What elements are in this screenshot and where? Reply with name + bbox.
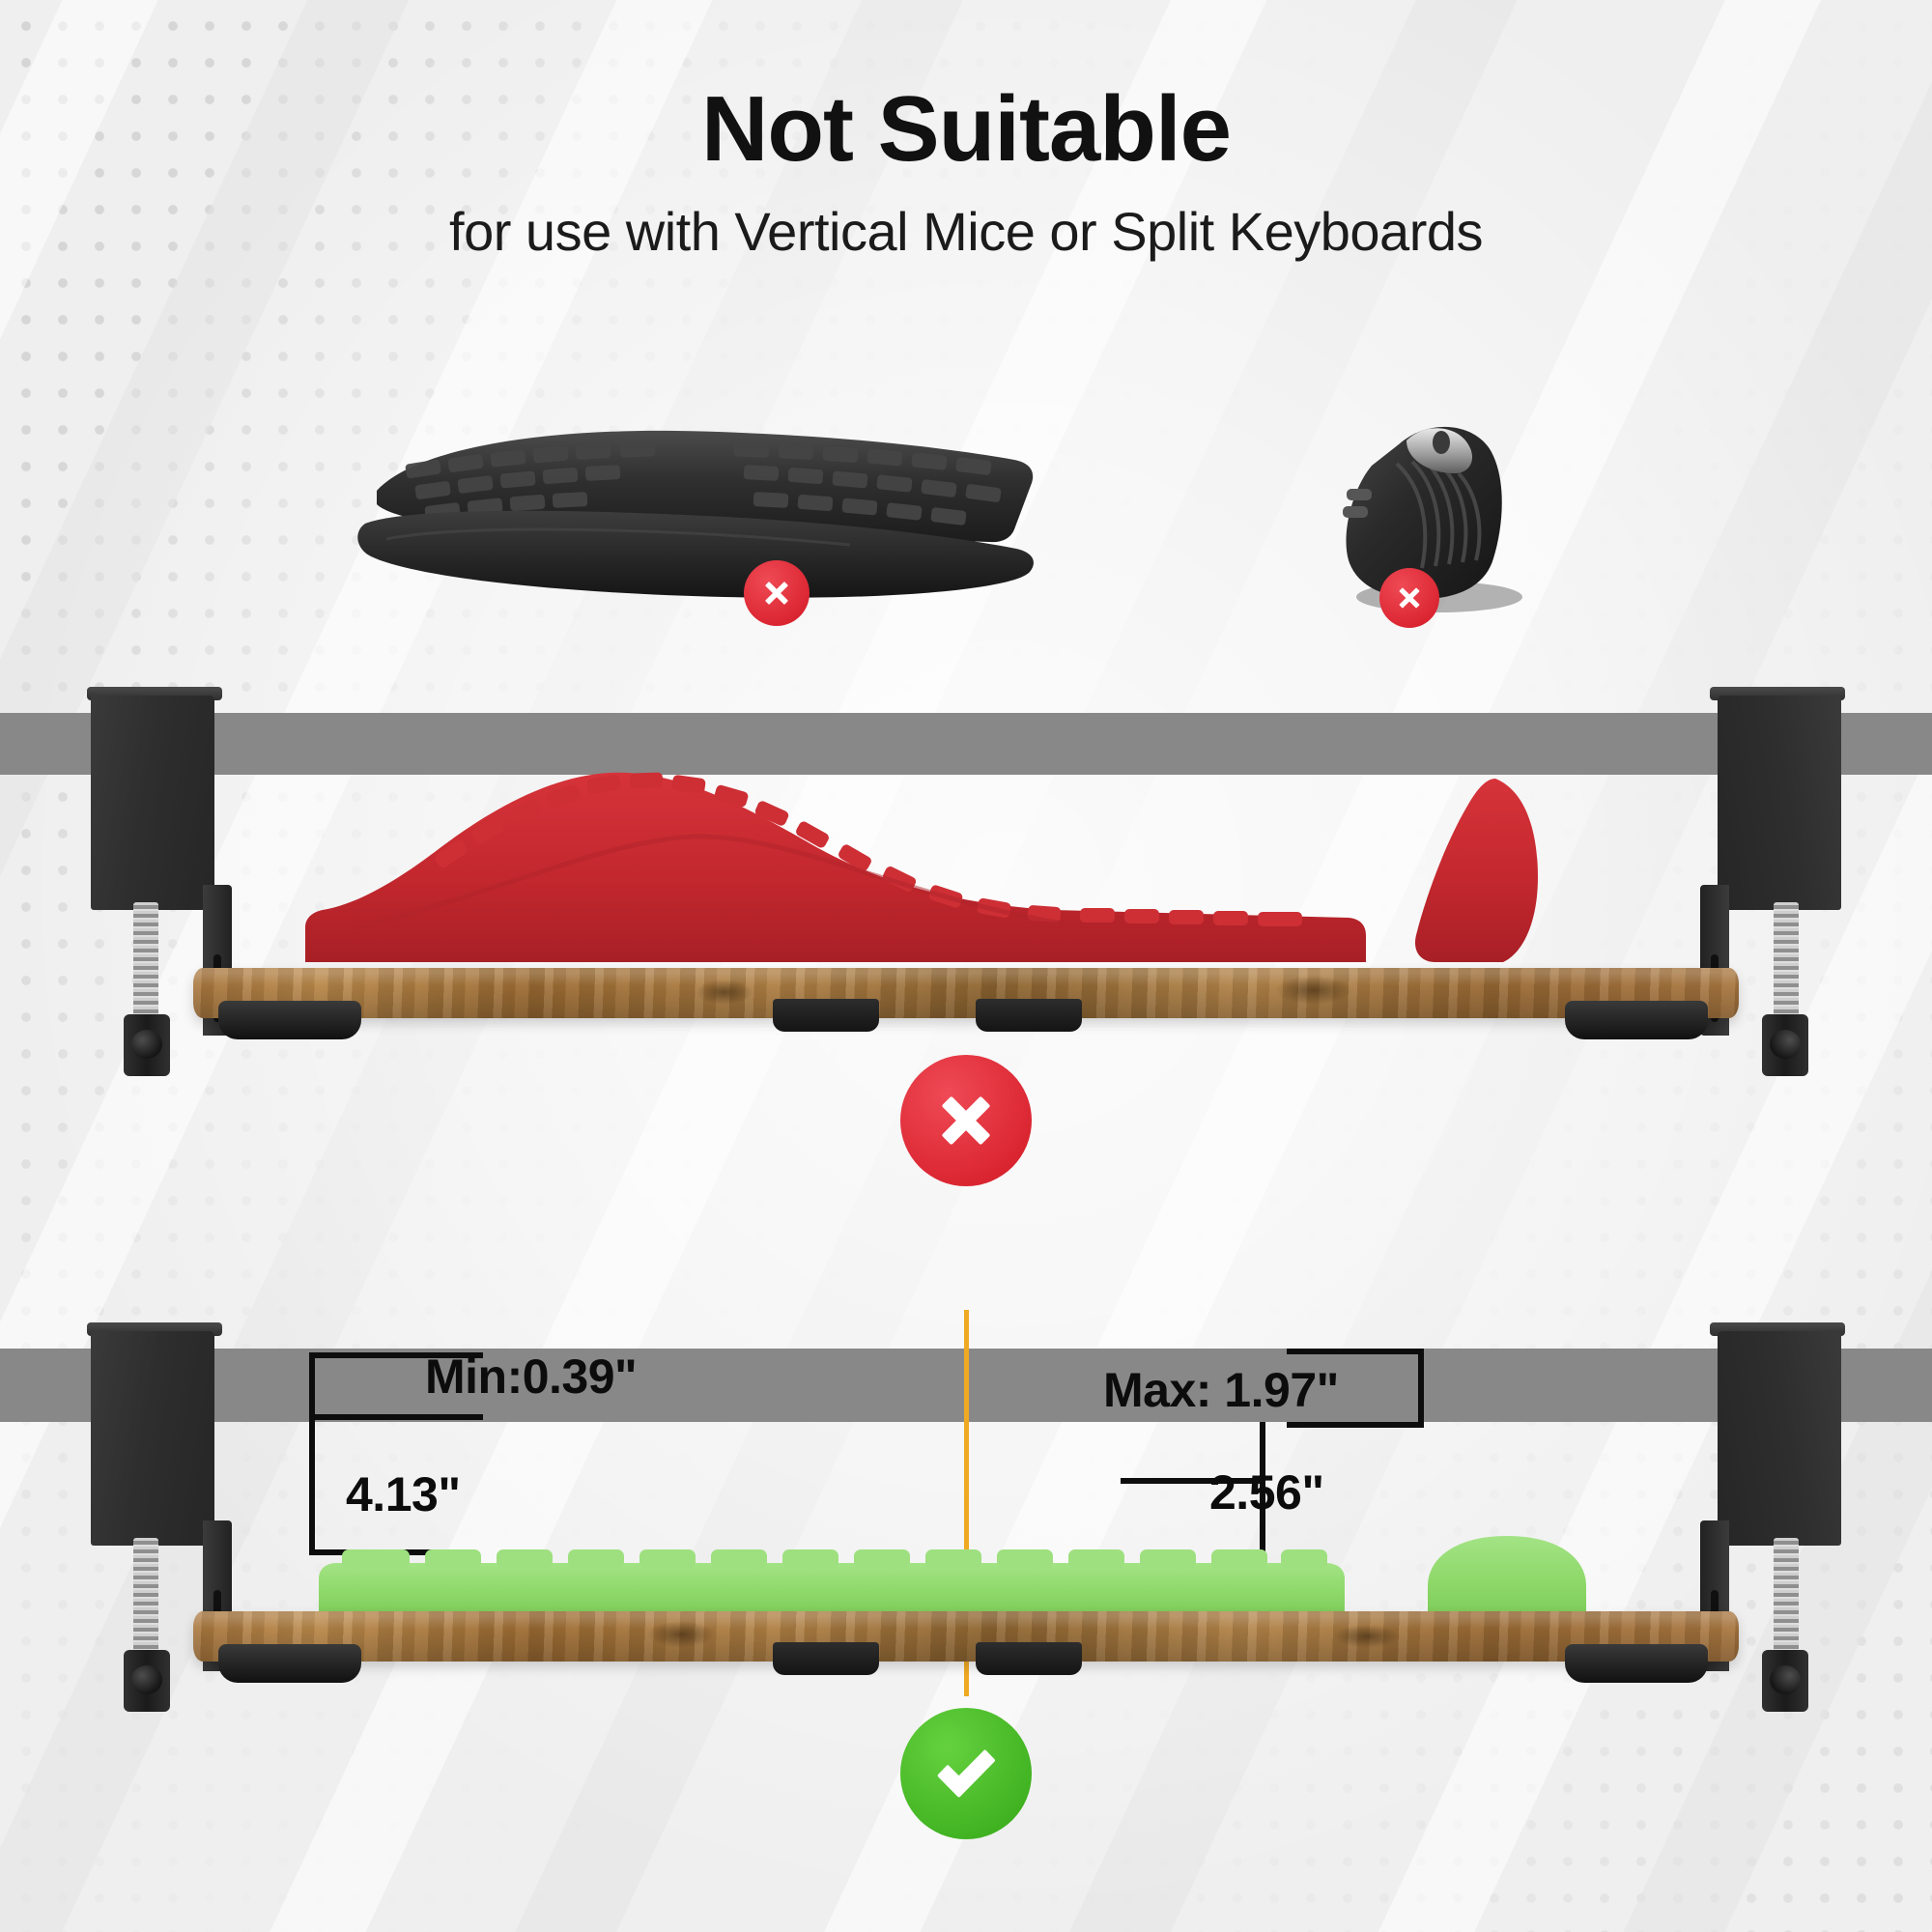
dim-label-413: 4.13" [346,1466,461,1522]
dim-label-256: 2.56" [1209,1464,1324,1520]
heading-block: Not Suitable for use with Vertical Mice … [0,81,1932,263]
dim-max-vert [1418,1349,1424,1428]
x-mark-badge-bad-setup [900,1055,1032,1186]
tray-foot-right-bad [1565,1001,1708,1039]
dim-label-max: Max: 1.97" [1103,1362,1339,1418]
tray-foot-mid-r-bad [976,999,1082,1032]
x-mark-badge-keyboard [744,560,810,626]
vertical-mouse-photo [1314,406,1565,628]
dim-label-min: Min:0.39" [425,1349,637,1405]
x-mark-icon [1393,582,1426,614]
x-mark-icon [758,575,795,611]
wood-tray-bad [193,968,1739,1018]
x-mark-badge-mouse [1379,568,1439,628]
wood-tray-good [193,1611,1739,1662]
tray-foot-mid-l-good [773,1642,879,1675]
check-mark-badge-good-setup [900,1708,1032,1839]
check-mark-icon [925,1733,1007,1814]
dim-min-bottom-tick [309,1414,483,1420]
x-mark-icon [929,1084,1003,1157]
dim-min-vert [309,1352,315,1420]
tray-foot-mid-r-good [976,1642,1082,1675]
dim-413-vert [309,1414,315,1555]
infographic-canvas: Not Suitable for use with Vertical Mice … [0,0,1932,1932]
tray-foot-right-good [1565,1644,1708,1683]
dim-max-top-tick [1287,1349,1424,1354]
tray-foot-left-bad [218,1001,361,1039]
vertical-mouse-silhouette-red [1403,773,1577,971]
page-subtitle: for use with Vertical Mice or Split Keyb… [0,200,1932,263]
split-ergonomic-keyboard-photo [348,415,1043,628]
tray-foot-left-good [218,1644,361,1683]
split-keyboard-silhouette-red [290,763,1372,971]
page-title: Not Suitable [0,81,1932,179]
dim-max-bottom-tick [1287,1422,1424,1428]
tray-foot-mid-l-bad [773,999,879,1032]
